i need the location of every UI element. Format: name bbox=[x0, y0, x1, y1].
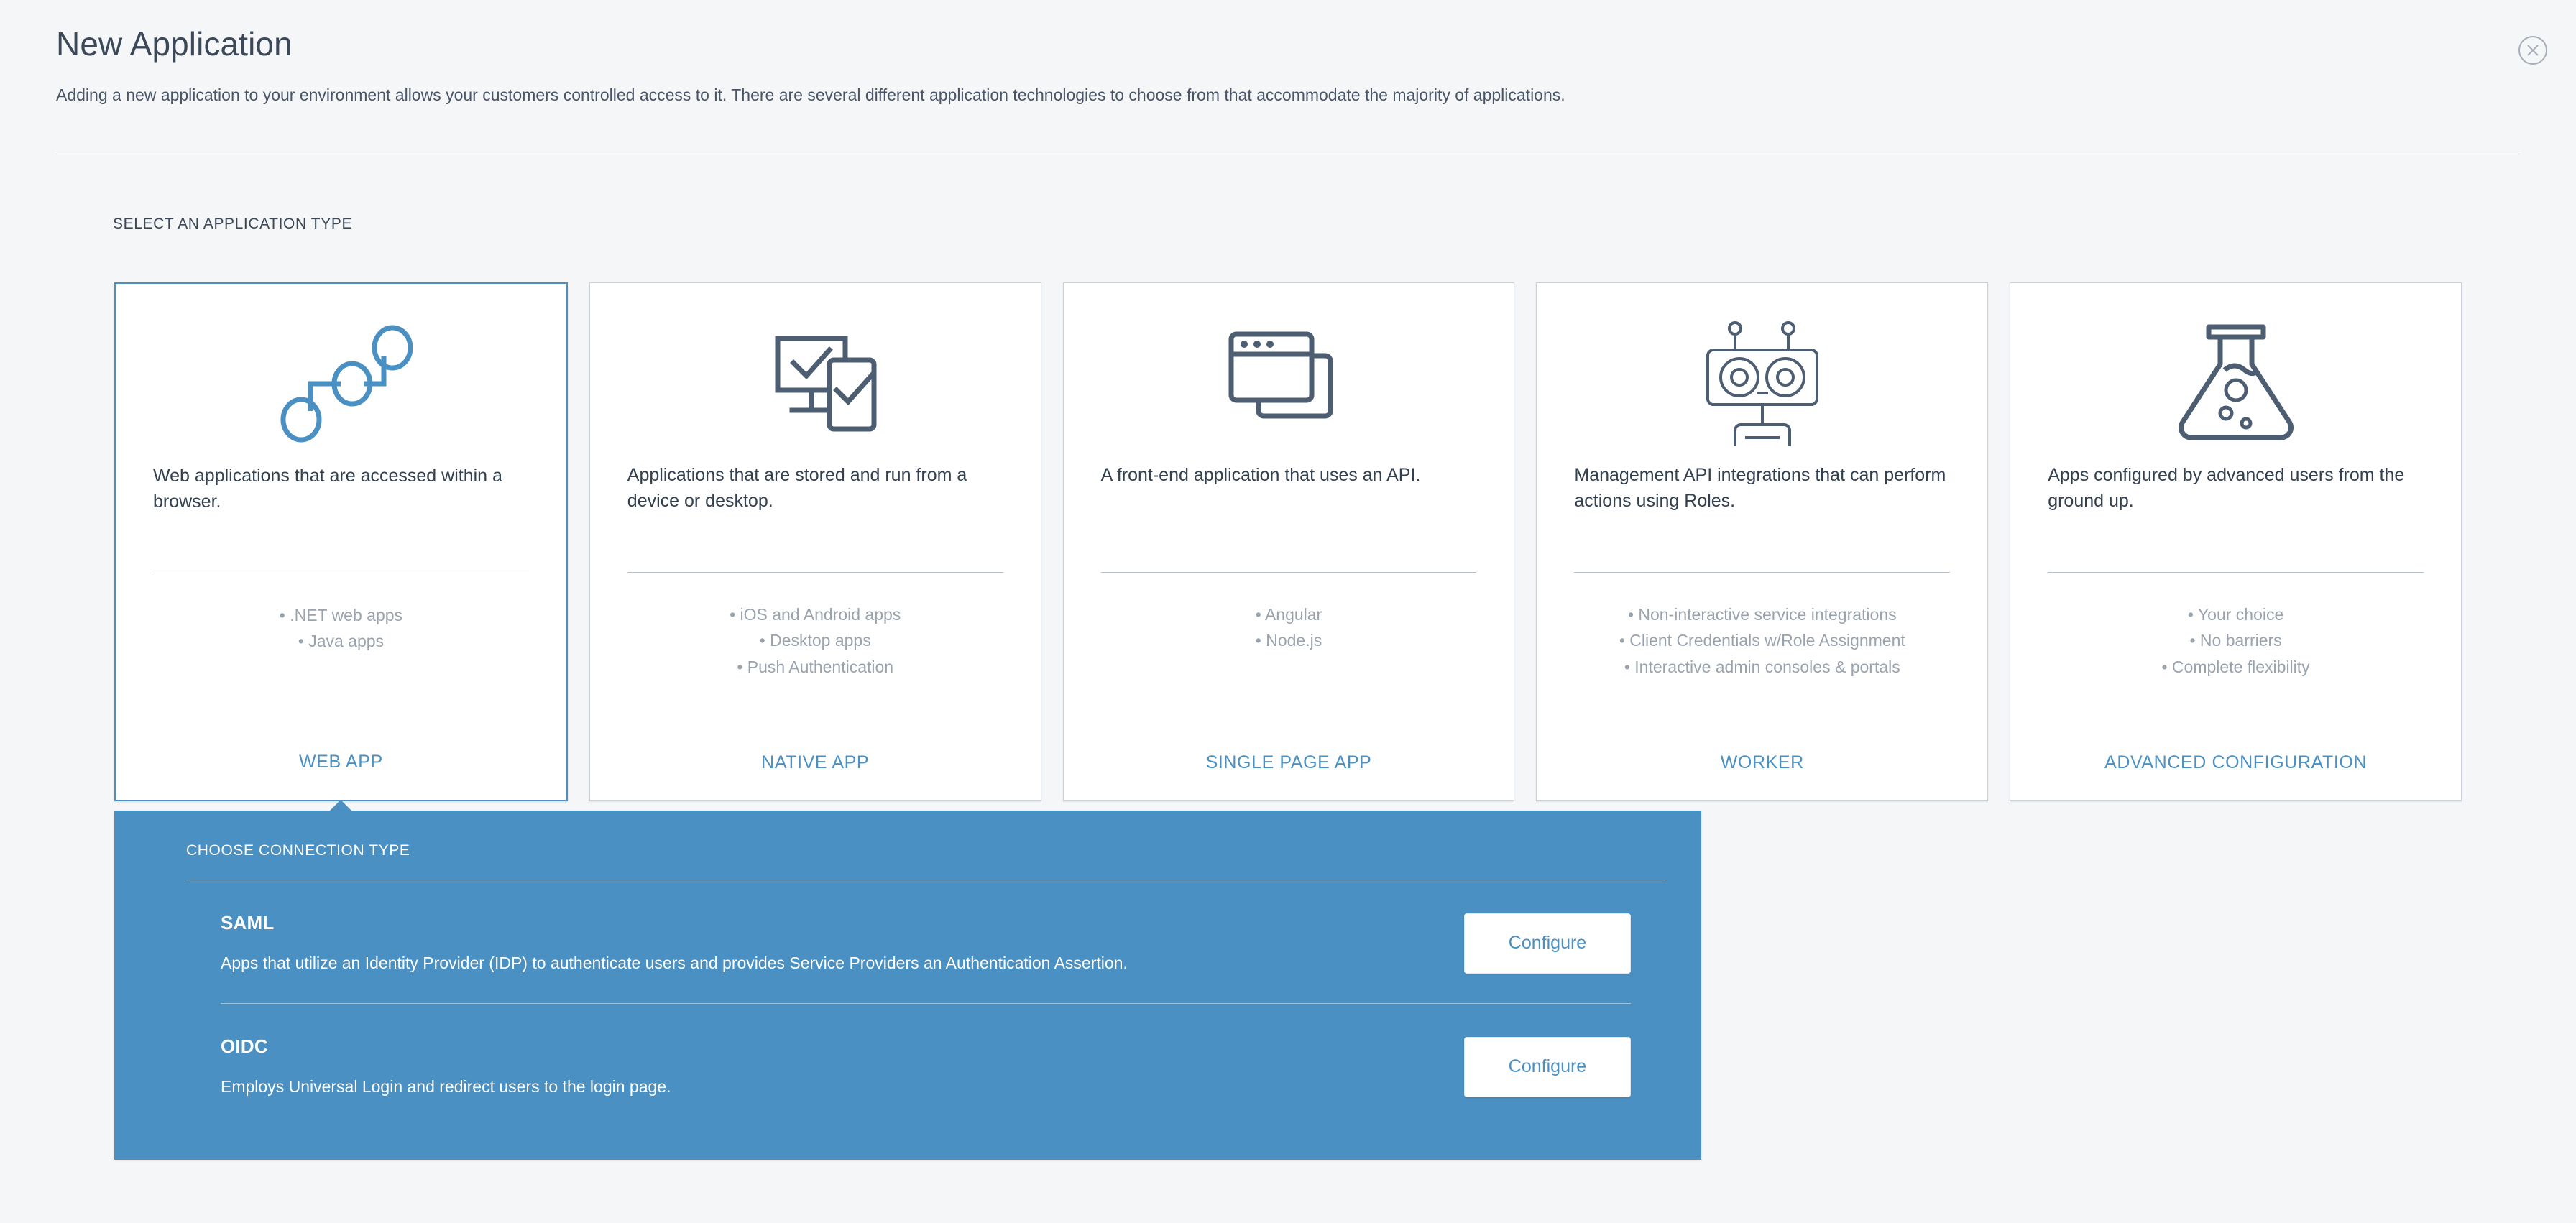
browser-windows-icon bbox=[1064, 283, 1514, 463]
card-type-label[interactable]: ADVANCED CONFIGURATION bbox=[2010, 752, 2461, 773]
desktop-and-device-check-icon bbox=[590, 283, 1041, 463]
card-bullets: • .NET web apps • Java apps bbox=[116, 602, 566, 655]
list-item: • .NET web apps bbox=[144, 602, 538, 628]
app-type-card-worker[interactable]: Management API integrations that can per… bbox=[1536, 282, 1988, 801]
list-item: • Client Credentials w/Role Assignment bbox=[1565, 627, 1959, 653]
card-type-label[interactable]: WEB APP bbox=[116, 752, 566, 772]
card-type-label[interactable]: SINGLE PAGE APP bbox=[1064, 752, 1514, 773]
application-type-cards: Web applications that are accessed withi… bbox=[114, 282, 2462, 801]
card-divider bbox=[1574, 572, 1950, 573]
dialog-header: New Application Adding a new application… bbox=[56, 26, 2520, 106]
list-item: • Node.js bbox=[1092, 627, 1486, 653]
list-item: • Complete flexibility bbox=[2039, 654, 2432, 680]
card-description: Apps configured by advanced users from t… bbox=[2010, 463, 2461, 546]
configure-saml-button[interactable]: Configure bbox=[1464, 913, 1631, 974]
list-item: • No barriers bbox=[2039, 627, 2432, 653]
card-divider bbox=[1101, 572, 1477, 573]
card-divider bbox=[2048, 572, 2424, 573]
choose-connection-type-panel: CHOOSE CONNECTION TYPE SAML Apps that ut… bbox=[114, 811, 1701, 1160]
flask-icon bbox=[2010, 283, 2461, 463]
section-label: SELECT AN APPLICATION TYPE bbox=[113, 216, 352, 233]
app-type-card-single-page-app[interactable]: A front-end application that uses an API… bbox=[1063, 282, 1515, 801]
page-title: New Application bbox=[56, 26, 2520, 63]
list-item: • Your choice bbox=[2039, 601, 2432, 627]
connection-option-description: Employs Universal Login and redirect use… bbox=[221, 1076, 1464, 1098]
connection-option-text: SAML Apps that utilize an Identity Provi… bbox=[221, 912, 1464, 974]
connection-option-saml: SAML Apps that utilize an Identity Provi… bbox=[221, 880, 1631, 1003]
list-item: • Java apps bbox=[144, 628, 538, 654]
configure-oidc-button[interactable]: Configure bbox=[1464, 1037, 1631, 1097]
card-bullets: • iOS and Android apps • Desktop apps • … bbox=[590, 601, 1041, 680]
list-item: • Interactive admin consoles & portals bbox=[1565, 654, 1959, 680]
connection-option-name: SAML bbox=[221, 912, 1464, 934]
card-description: Applications that are stored and run fro… bbox=[590, 463, 1041, 546]
node-graph-icon bbox=[116, 284, 566, 463]
connection-option-oidc: OIDC Employs Universal Login and redirec… bbox=[221, 1004, 1631, 1127]
close-circle-icon[interactable] bbox=[2517, 34, 2549, 66]
connection-panel-heading: CHOOSE CONNECTION TYPE bbox=[150, 842, 1665, 859]
card-description: Management API integrations that can per… bbox=[1537, 463, 1987, 546]
header-divider bbox=[56, 154, 2520, 154]
card-bullets: • Your choice • No barriers • Complete f… bbox=[2010, 601, 2461, 680]
list-item: • Desktop apps bbox=[619, 627, 1012, 653]
card-type-label[interactable]: NATIVE APP bbox=[590, 752, 1041, 773]
list-item: • Non-interactive service integrations bbox=[1565, 601, 1959, 627]
card-bullets: • Angular • Node.js bbox=[1064, 601, 1514, 654]
app-type-card-native-app[interactable]: Applications that are stored and run fro… bbox=[589, 282, 1041, 801]
app-type-card-web-app[interactable]: Web applications that are accessed withi… bbox=[114, 282, 568, 801]
card-description: Web applications that are accessed withi… bbox=[116, 463, 566, 547]
connection-option-text: OIDC Employs Universal Login and redirec… bbox=[221, 1035, 1464, 1098]
connection-option-description: Apps that utilize an Identity Provider (… bbox=[221, 952, 1464, 974]
card-divider bbox=[153, 573, 529, 573]
card-description: A front-end application that uses an API… bbox=[1064, 463, 1514, 546]
card-divider bbox=[627, 572, 1003, 573]
app-type-card-advanced-configuration[interactable]: Apps configured by advanced users from t… bbox=[2010, 282, 2462, 801]
page-subtitle: Adding a new application to your environ… bbox=[56, 84, 2520, 106]
robot-icon bbox=[1537, 283, 1987, 463]
list-item: • Push Authentication bbox=[619, 654, 1012, 680]
connection-option-name: OIDC bbox=[221, 1035, 1464, 1058]
new-application-dialog: New Application Adding a new application… bbox=[0, 0, 2576, 1223]
card-bullets: • Non-interactive service integrations •… bbox=[1537, 601, 1987, 680]
list-item: • iOS and Android apps bbox=[619, 601, 1012, 627]
card-type-label[interactable]: WORKER bbox=[1537, 752, 1987, 773]
list-item: • Angular bbox=[1092, 601, 1486, 627]
